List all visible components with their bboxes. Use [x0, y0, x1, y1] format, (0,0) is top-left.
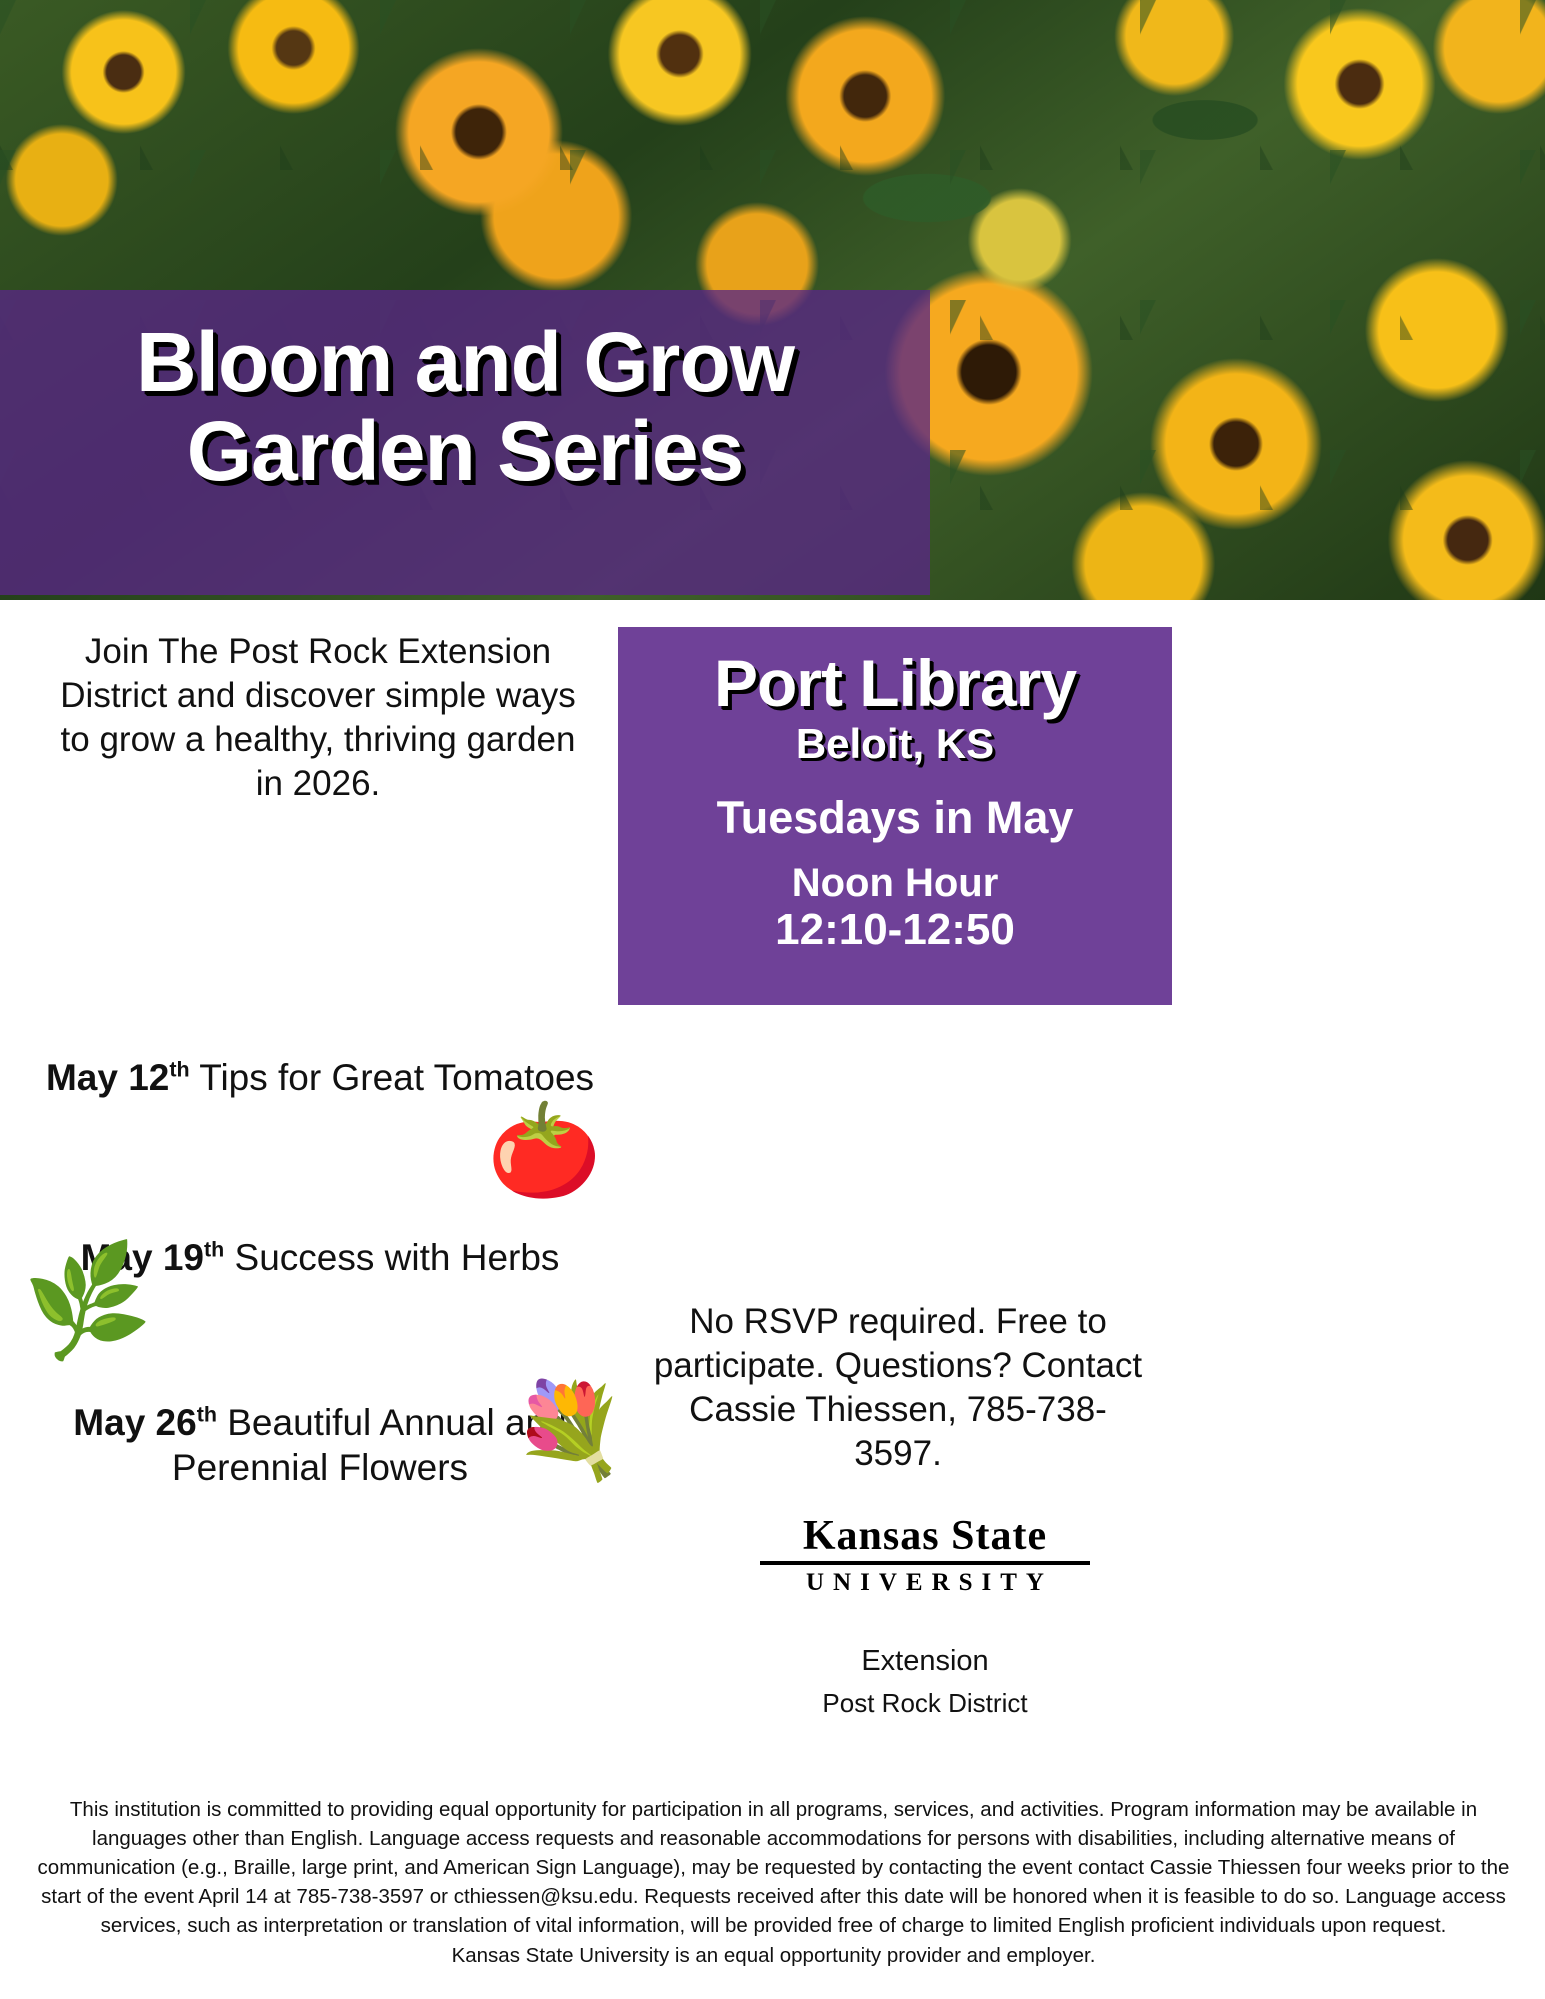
- footer-eoe: Kansas State University is an equal oppo…: [26, 1941, 1521, 1970]
- logo-divider: [760, 1561, 1090, 1565]
- footer-paragraph: This institution is committed to providi…: [26, 1795, 1521, 1941]
- session-topic: Beautiful Annual and Perennial Flowers: [172, 1402, 567, 1488]
- herb-sprig-icon: 🌿: [19, 1244, 156, 1363]
- title-banner: Bloom and Grow Garden Series: [0, 290, 930, 595]
- logo-state: State: [951, 1513, 1047, 1559]
- logo-wordmark: Kansas State: [760, 1515, 1090, 1557]
- venue-days: Tuesdays in May: [634, 793, 1156, 843]
- venue-name: Port Library: [634, 649, 1156, 718]
- tomato-plant-icon: 🍅: [487, 1105, 602, 1197]
- logo-unit-extension: Extension: [760, 1645, 1090, 1678]
- logo-kansas: Kansas: [803, 1513, 940, 1559]
- logo-university: UNIVERSITY: [760, 1570, 1090, 1595]
- title-line-2: Garden Series: [187, 407, 744, 496]
- session-date: May 12th: [46, 1057, 190, 1098]
- venue-hour-label: Noon Hour: [634, 861, 1156, 906]
- session-topic: Tips for Great Tomatoes: [190, 1057, 594, 1098]
- session-ordinal: th: [204, 1238, 224, 1262]
- title-line-1: Bloom and Grow: [136, 318, 794, 407]
- venue-city: Beloit, KS: [634, 720, 1156, 767]
- footer-disclaimer: This institution is committed to providi…: [26, 1795, 1521, 1970]
- logo-district: Post Rock District: [760, 1688, 1090, 1719]
- session-date: May 26th: [73, 1402, 217, 1443]
- flyer-page: Bloom and Grow Garden Series Join The Po…: [0, 0, 1545, 1999]
- flower-bouquet-icon: 💐: [512, 1385, 627, 1477]
- kansas-state-logo: Kansas State UNIVERSITY: [760, 1515, 1090, 1595]
- venue-time-range: 12:10-12:50: [634, 906, 1156, 954]
- session-ordinal: th: [197, 1403, 217, 1427]
- session-ordinal: th: [169, 1058, 189, 1082]
- session-topic: Success with Herbs: [224, 1237, 559, 1278]
- intro-paragraph: Join The Post Rock Extension District an…: [48, 630, 588, 806]
- venue-info-box: Port Library Beloit, KS Tuesdays in May …: [618, 627, 1172, 1005]
- rsvp-note: No RSVP required. Free to participate. Q…: [648, 1300, 1148, 1476]
- session-item: May 12th Tips for Great Tomatoes: [30, 1055, 610, 1100]
